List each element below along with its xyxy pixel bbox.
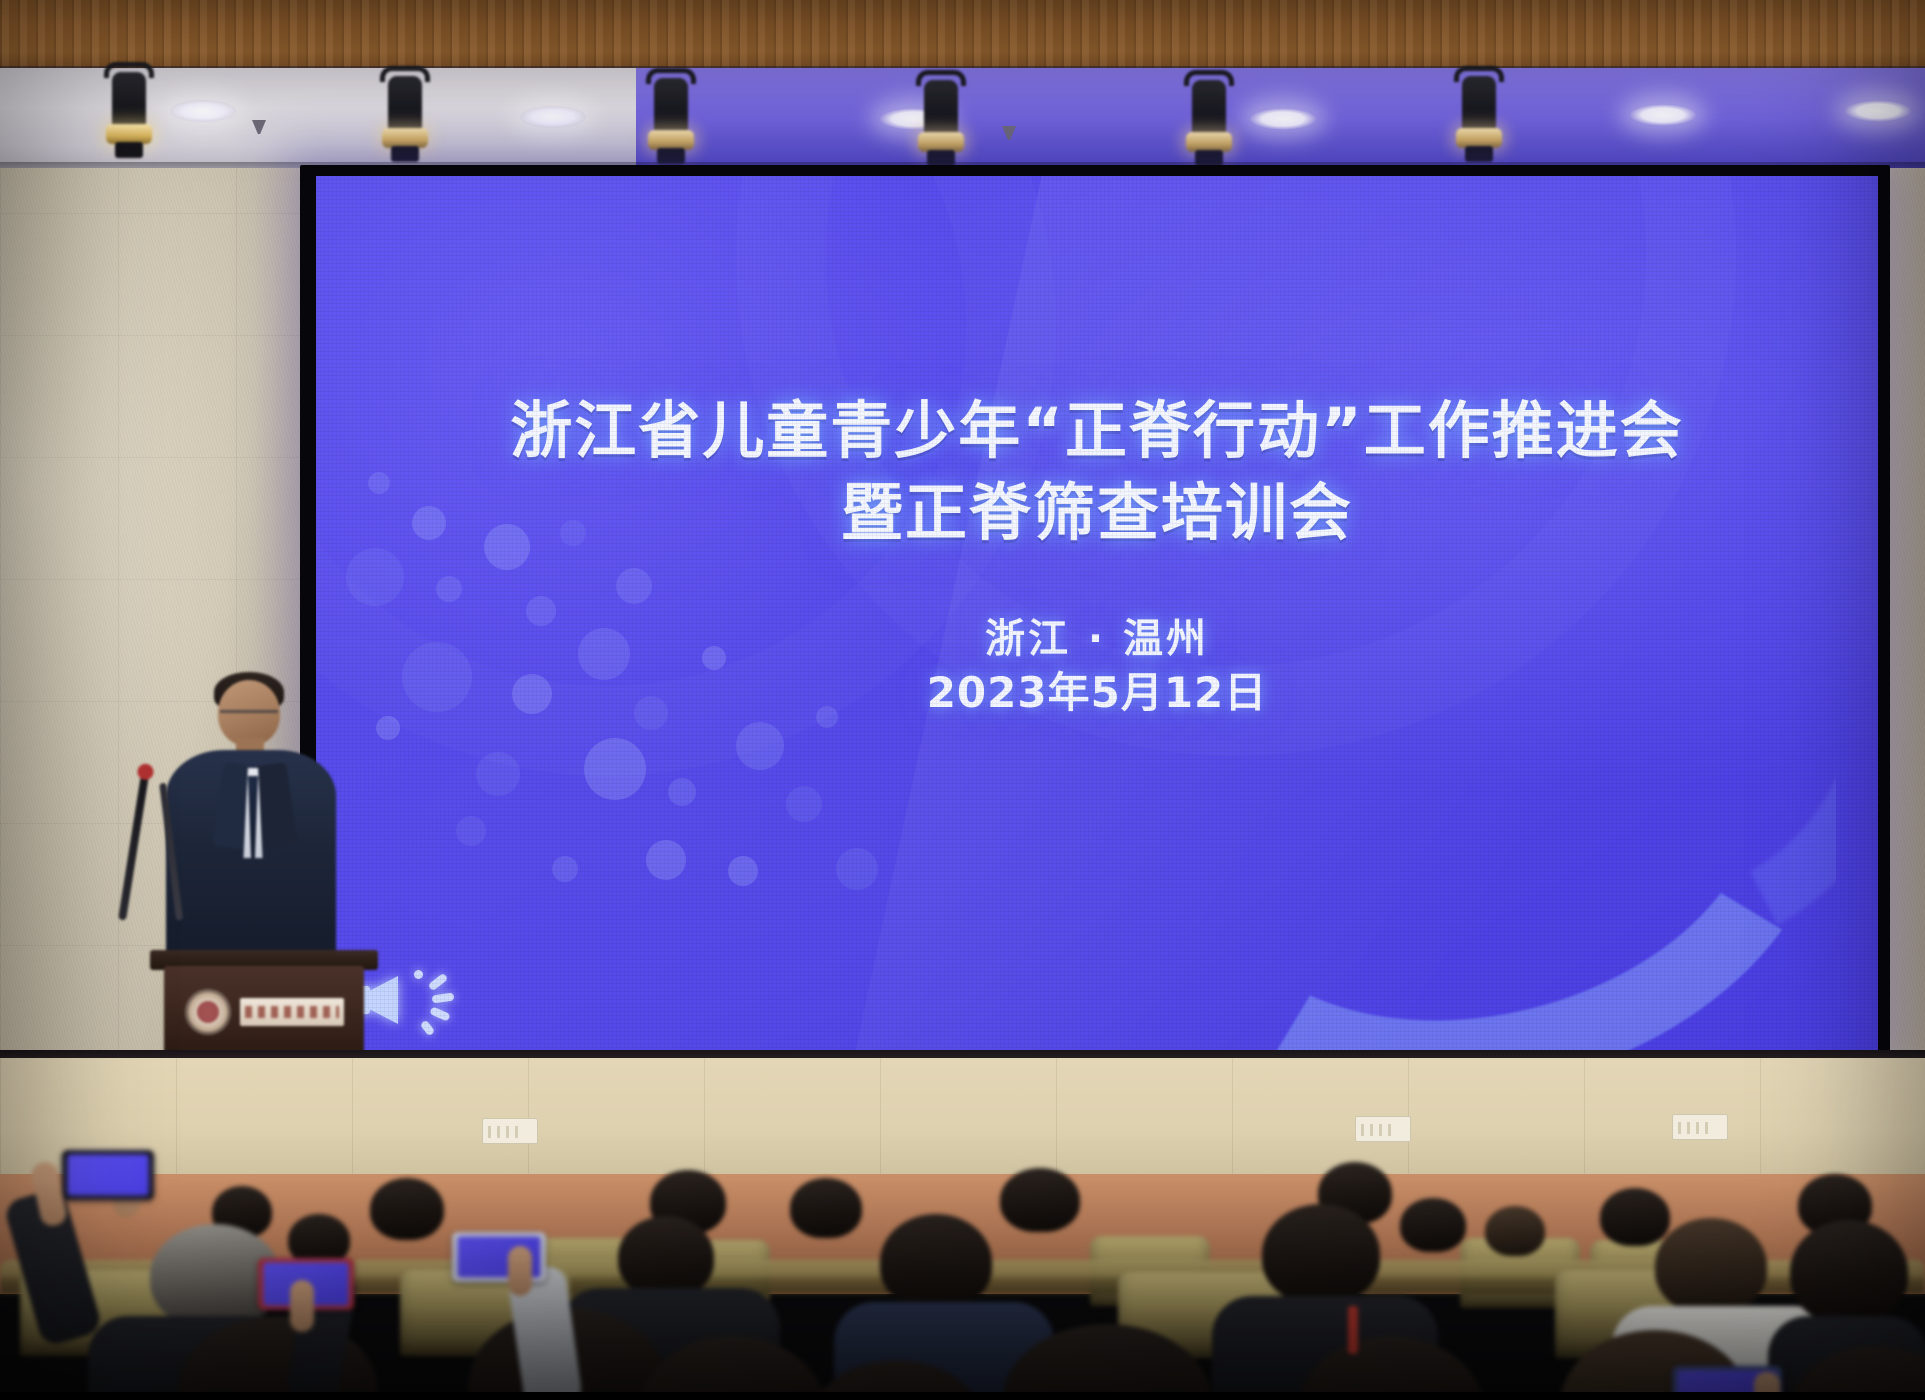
slide-title-line-1: 浙江省儿童青少年“正脊行动”工作推进会: [316, 394, 1878, 468]
eyeglasses: [220, 710, 278, 720]
recessed-ceiling-light: [1630, 104, 1696, 126]
wood-ceiling-panel: [0, 0, 1925, 72]
audience-member-head: [790, 1178, 862, 1238]
stage-spotlight: [374, 66, 436, 166]
recessed-ceiling-light: [170, 100, 236, 122]
slide-title-line-2: 暨正脊筛查培训会: [316, 476, 1878, 550]
institution-emblem: [188, 992, 228, 1032]
presentation-screen: 浙江省儿童青少年“正脊行动”工作推进会 暨正脊筛查培训会 浙江 · 温州 202…: [316, 176, 1878, 1052]
recessed-ceiling-light: [1845, 100, 1911, 122]
audience-member-head: [1262, 1204, 1380, 1304]
audience-member-head: [370, 1178, 444, 1240]
stage-spotlight: [1178, 70, 1240, 170]
stage-spotlight: [1448, 66, 1510, 166]
seated-audience: [0, 1120, 1925, 1400]
recessed-ceiling-light: [520, 106, 586, 128]
lanyard: [1348, 1306, 1358, 1354]
recessed-ceiling-light: [1250, 108, 1316, 130]
auditorium-photo: 浙江省儿童青少年“正脊行动”工作推进会 暨正脊筛查培训会 浙江 · 温州 202…: [0, 0, 1925, 1400]
podium-nameplate: [240, 998, 344, 1026]
stage-spotlight: [98, 62, 160, 162]
audience-member-head: [1400, 1198, 1466, 1252]
slide-date: 2023年5月12日: [316, 659, 1878, 720]
audience-member-head: [1790, 1220, 1908, 1324]
stage-spotlight: [640, 68, 702, 168]
audience-member-head: [880, 1214, 992, 1310]
screen-decor-swoosh: [1196, 736, 1836, 1052]
stage-spotlight: [910, 70, 972, 170]
audience-member-hand: [508, 1246, 532, 1296]
photo-bottom-border: [0, 1392, 1925, 1400]
audience-member-head: [1600, 1188, 1670, 1246]
audience-member-head: [1000, 1168, 1080, 1232]
audience-member-head: [1485, 1206, 1545, 1256]
presenter-at-podium: [166, 672, 336, 972]
right-wall: [1885, 168, 1925, 1068]
audience-member-head: [1655, 1218, 1767, 1314]
audience-member-hand: [290, 1280, 314, 1332]
smartphone-recording-screen: [62, 1150, 154, 1200]
slide-location: 浙江 · 温州: [316, 606, 1878, 664]
audience-member-head: [618, 1216, 714, 1298]
